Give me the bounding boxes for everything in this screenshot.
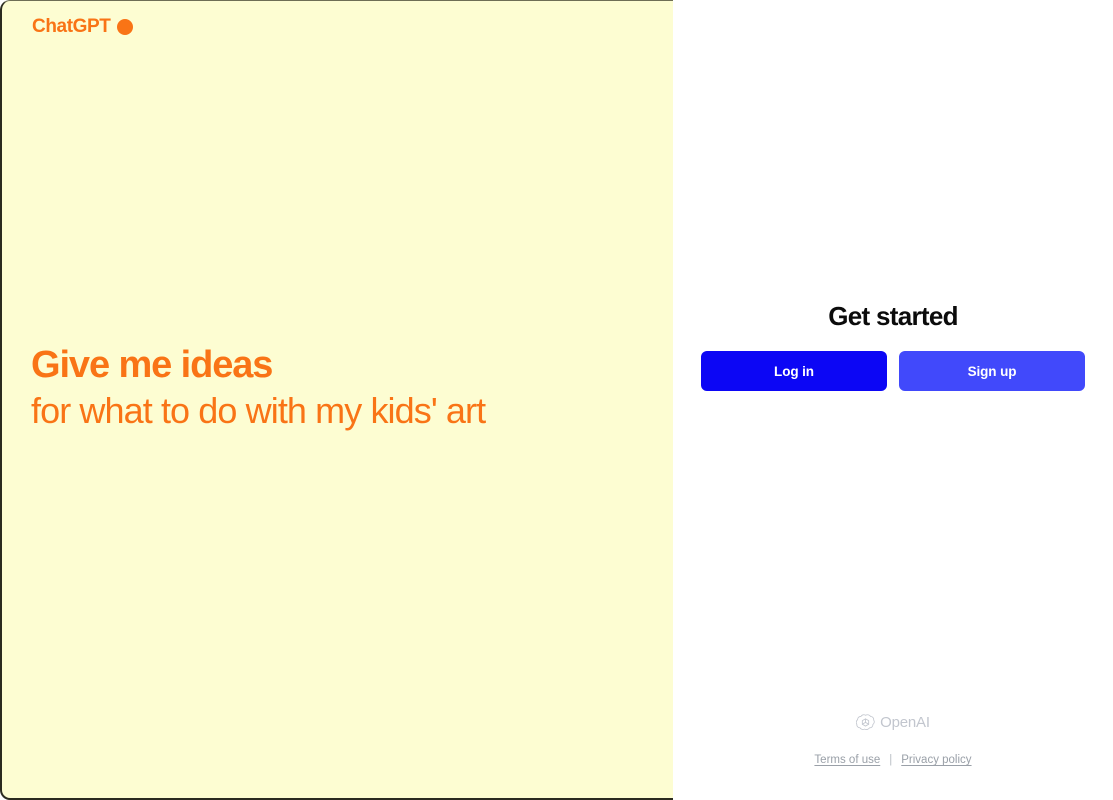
chatgpt-brand: ChatGPT	[32, 17, 133, 36]
headline-line-1: Give me ideas	[31, 342, 631, 388]
promo-headline: Give me ideas for what to do with my kid…	[31, 342, 631, 433]
openai-brand: OpenAI	[856, 713, 930, 732]
footer: OpenAI Terms of use | Privacy policy	[673, 713, 1113, 766]
terms-of-use-link[interactable]: Terms of use	[814, 754, 880, 766]
footer-separator: |	[889, 754, 892, 766]
auth-panel: Get started Log in Sign up OpenAI	[673, 0, 1113, 800]
signup-button[interactable]: Sign up	[899, 351, 1085, 391]
chatgpt-wordmark: ChatGPT	[32, 17, 110, 36]
openai-wordmark: OpenAI	[880, 715, 930, 730]
headline-line-2: for what to do with my kids' art	[31, 388, 631, 433]
page-title: Get started	[828, 300, 958, 332]
openai-logo-icon	[856, 713, 875, 732]
chatgpt-splash-page: ChatGPT Give me ideas for what to do wit…	[0, 0, 1113, 800]
privacy-policy-link[interactable]: Privacy policy	[901, 754, 971, 766]
get-started-block: Get started Log in Sign up	[673, 300, 1113, 391]
orange-circle-icon	[117, 19, 133, 35]
footer-links: Terms of use | Privacy policy	[814, 754, 971, 766]
auth-button-group: Log in Sign up	[701, 351, 1085, 391]
login-button[interactable]: Log in	[701, 351, 887, 391]
promo-panel: ChatGPT Give me ideas for what to do wit…	[0, 0, 673, 800]
